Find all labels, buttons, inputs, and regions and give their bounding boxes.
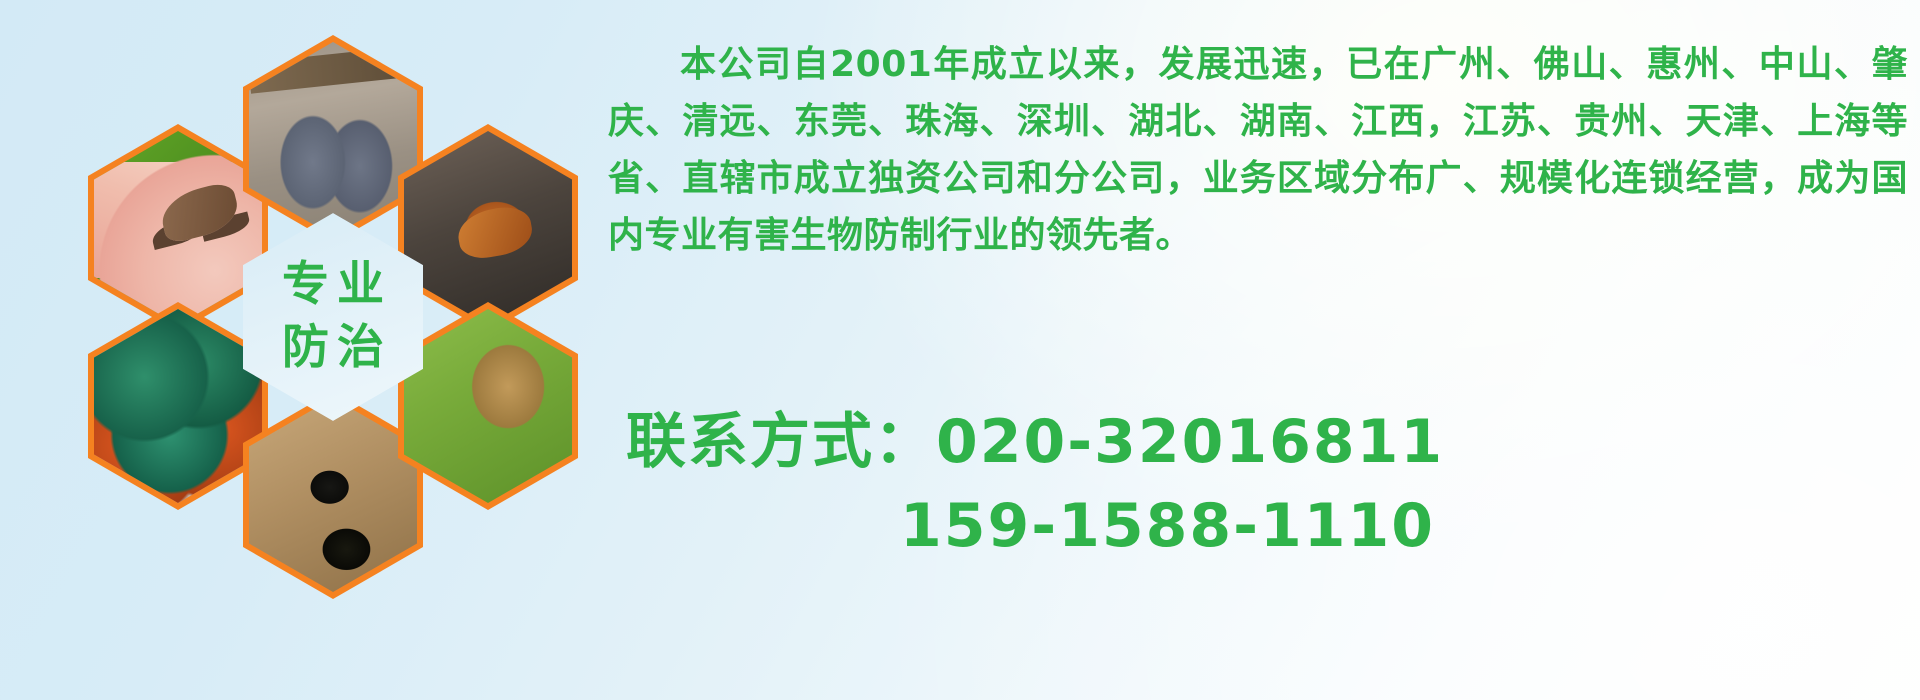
contact-line-landline[interactable]: 联系方式：020-32016811 [608,400,1908,484]
contact-line-mobile[interactable]: 159-1588-1110 [608,484,1908,568]
hex-inner-fly [94,309,262,503]
mosquito-photo [94,131,262,325]
hex-cell-stinkbug[interactable] [398,302,578,510]
slogan-line-2: 防治 [274,323,392,374]
hex-cell-fly[interactable] [88,302,268,510]
hex-inner-rat [249,42,417,236]
rat-photo [249,42,417,236]
content-column: 本公司自2001年成立以来，发展迅速，已在广州、佛山、惠州、中山、肇庆、清远、东… [608,0,1920,700]
hex-inner-cockroach [404,131,572,325]
hexagon-image-cluster: 专业 防治 [88,2,588,568]
hex-inner-stinkbug [404,309,572,503]
fly-photo [94,309,262,503]
hex-cell-ant[interactable] [243,391,423,599]
hex-inner-mosquito [94,131,262,325]
hex-inner-ant [249,398,417,592]
ant-photo [249,398,417,592]
contact-block: 联系方式：020-32016811 159-1588-1110 [608,400,1908,568]
hex-inner-slogan: 专业 防治 [243,213,423,421]
hex-cell-mosquito[interactable] [88,124,268,332]
hex-cell-cockroach[interactable] [398,124,578,332]
hex-cell-slogan: 专业 防治 [243,213,423,421]
pest-control-banner: 专业 防治 本公司自2001年成立以来，发展迅速，已在广州、佛山、惠州、中山、肇… [0,0,1920,700]
company-intro-paragraph: 本公司自2001年成立以来，发展迅速，已在广州、佛山、惠州、中山、肇庆、清远、东… [608,36,1908,264]
hex-cell-rat[interactable] [243,35,423,243]
cockroach-photo [404,131,572,325]
stinkbug-photo [404,309,572,503]
slogan-line-1: 专业 [274,260,392,311]
